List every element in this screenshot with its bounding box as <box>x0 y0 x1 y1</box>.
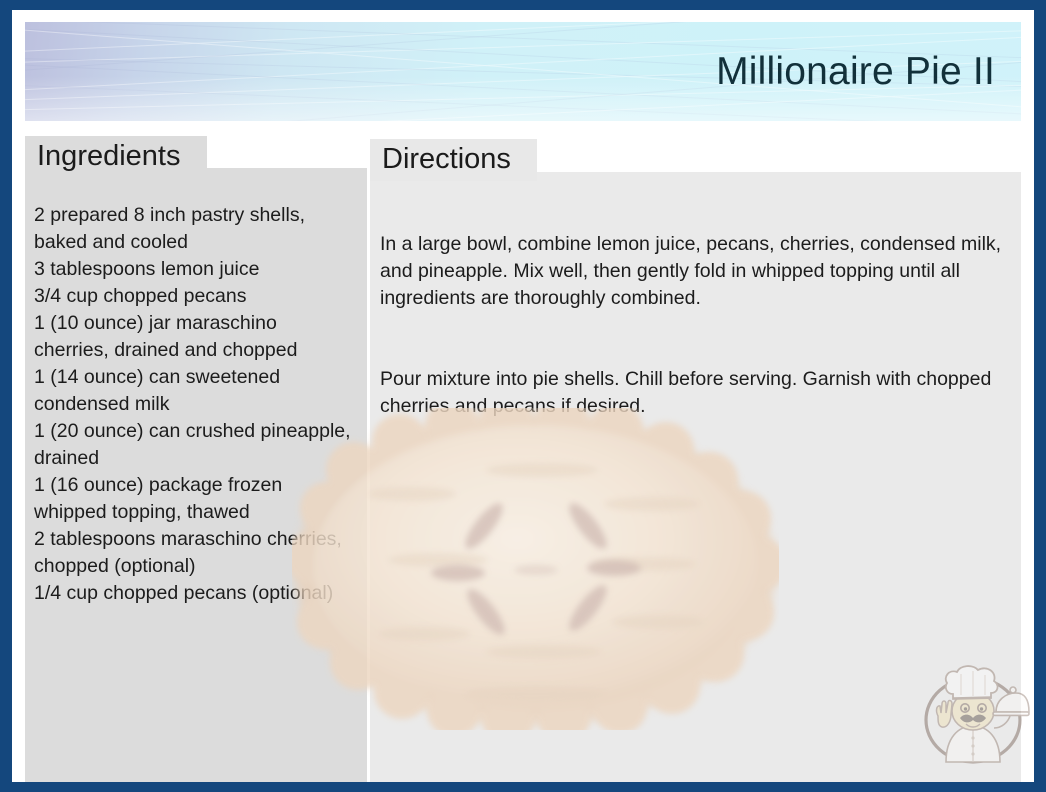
directions-paragraph: In a large bowl, combine lemon juice, pe… <box>380 231 1016 312</box>
directions-body: In a large bowl, combine lemon juice, pe… <box>380 204 1016 447</box>
ingredients-list: 2 prepared 8 inch pastry shells, baked a… <box>34 202 354 607</box>
title-banner: Millionaire Pie II <box>25 22 1021 121</box>
directions-paragraph: Pour mixture into pie shells. Chill befo… <box>380 366 1016 420</box>
chef-logo <box>916 658 1030 772</box>
recipe-slide: Millionaire Pie II Ingredients 2 prepare… <box>12 10 1034 782</box>
directions-heading: Directions <box>370 139 537 181</box>
page-title: Millionaire Pie II <box>716 50 995 94</box>
ingredients-heading: Ingredients <box>25 136 207 178</box>
